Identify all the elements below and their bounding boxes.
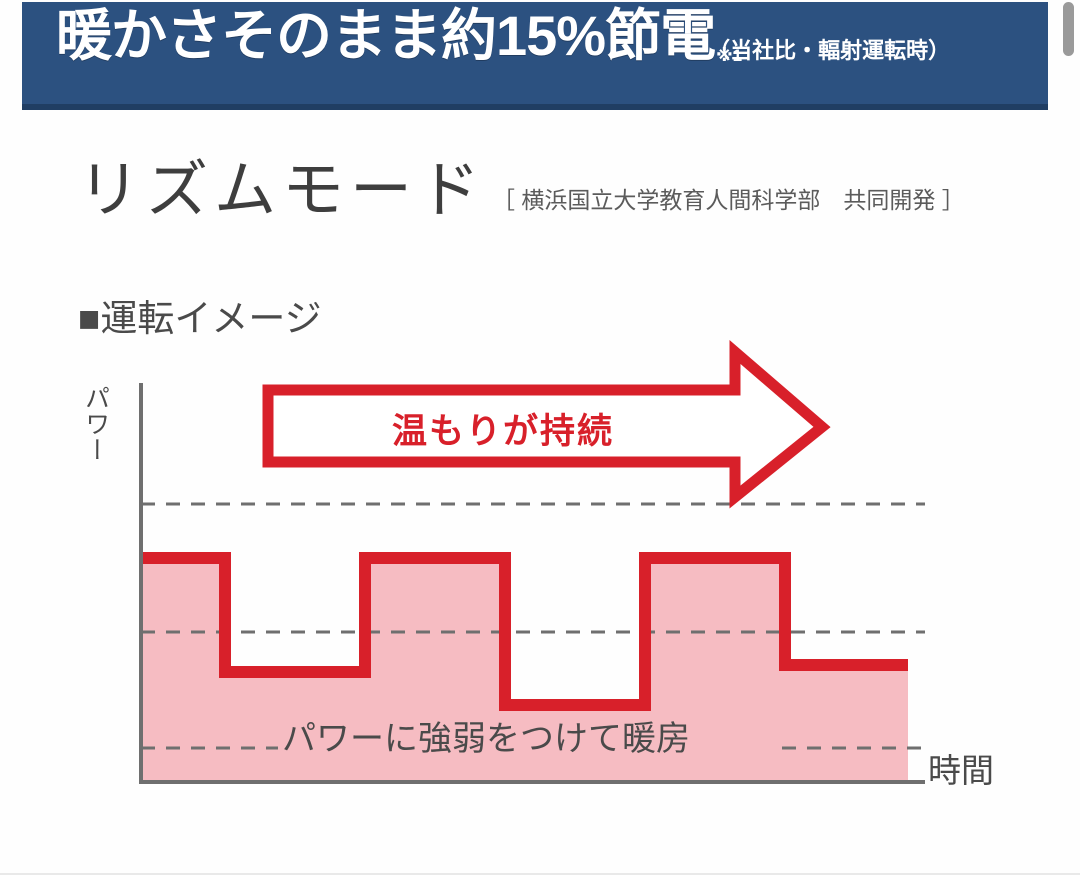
arrow-label: 温もりが持続 [268, 400, 738, 456]
chart-inline-note: パワーに強弱をつけて暖房 [282, 722, 690, 756]
page-background: 暖かさそのまま約15%節電 ※1 （当社比・輻射運転時） リズムモード ［ 横浜… [0, 0, 1080, 875]
y-axis-label: パワー [82, 385, 108, 463]
scrollbar-thumb[interactable] [1063, 2, 1074, 56]
operation-image-chart: パワー 時間 温もりが持続 パワーに強弱をつけて暖房 [0, 0, 1080, 875]
x-axis-label: 時間 [928, 754, 994, 787]
